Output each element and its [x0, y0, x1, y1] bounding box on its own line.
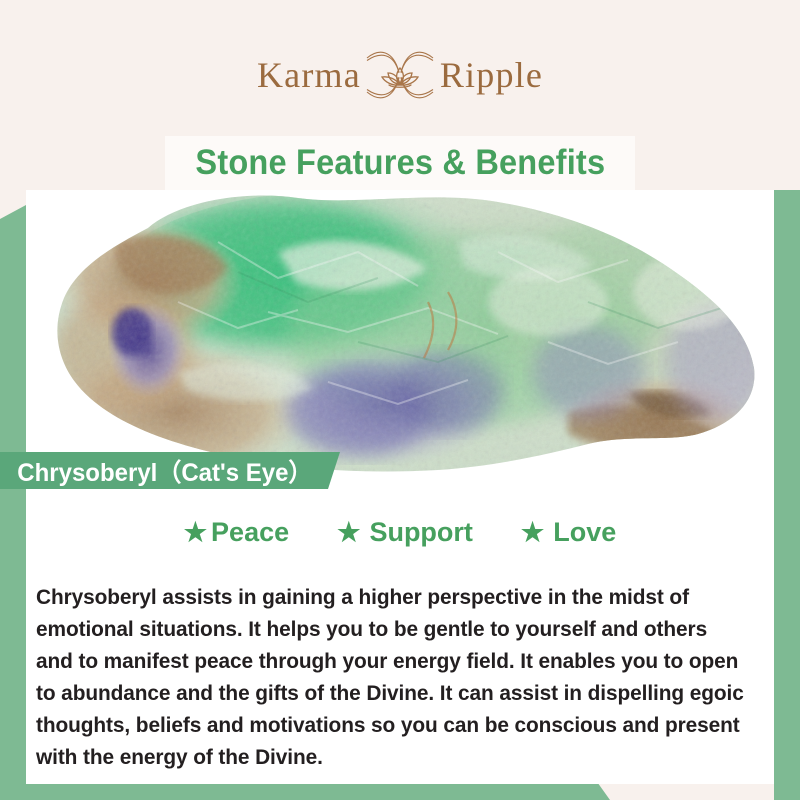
stone-name: Chrysoberyl（Cat's Eye）	[0, 453, 312, 489]
brand-name-left: Karma	[257, 55, 361, 95]
feature-list: ★ Peace ★ Support ★ Love	[26, 510, 774, 554]
star-icon: ★	[184, 519, 207, 545]
frame-left-bar	[0, 205, 26, 800]
feature-label: Peace	[211, 517, 289, 548]
brand-name-right: Ripple	[440, 55, 543, 95]
stone-name-plate: Chrysoberyl（Cat's Eye）	[0, 452, 340, 489]
feature-label: Support	[369, 517, 472, 548]
feature-peace: ★ Peace	[184, 517, 289, 548]
stone-photo	[26, 190, 774, 486]
title-ribbon: Stone Features & Benefits	[165, 136, 635, 190]
feature-support: ★ Support	[337, 517, 473, 548]
lotus-icon	[365, 44, 435, 106]
infographic-card: Karma	[0, 0, 800, 800]
stone-image	[28, 190, 772, 486]
page-title: Stone Features & Benefits	[195, 143, 605, 183]
feature-label: Love	[553, 517, 616, 548]
feature-love: ★ Love	[521, 517, 616, 548]
star-icon: ★	[337, 519, 360, 545]
header-band: Karma	[0, 0, 800, 190]
brand-logo: Karma	[0, 44, 800, 106]
star-icon: ★	[521, 519, 544, 545]
stone-description: Chrysoberyl assists in gaining a higher …	[36, 581, 744, 773]
